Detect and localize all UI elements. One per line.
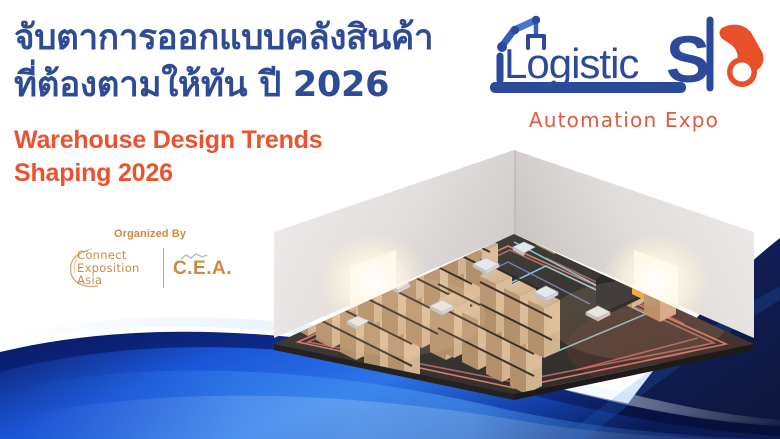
cea-map-icon <box>179 253 209 263</box>
organized-by-block: Organized By Connect Exposition Asia C.E… <box>60 228 240 289</box>
connect-exposition-asia-logo: Connect Exposition Asia <box>68 247 154 289</box>
cea-abbreviation-logo: C.E.A. <box>173 256 232 280</box>
organized-by-label: Organized By <box>60 228 240 240</box>
logo-wordmark: Logistic <box>504 40 638 87</box>
thai-headline-line-1: จับตาการออกแบบคลังสินค้า <box>14 16 464 61</box>
connect-exposition-asia-text: Connect Exposition Asia <box>77 249 140 287</box>
org-logo-line-1: Connect <box>77 249 140 262</box>
delivery-truck-icon <box>720 25 764 87</box>
english-headline-line-1: Warehouse Design Trends <box>14 124 464 157</box>
organizer-logo-divider <box>163 248 164 288</box>
organizer-logos: Connect Exposition Asia C.E.A. <box>60 247 240 289</box>
english-headline-line-2: Shaping 2026 <box>14 157 464 190</box>
headline-block: จับตาการออกแบบคลังสินค้า ที่ต้องตามให้ทั… <box>14 16 464 190</box>
logo-wordmark-accent: S <box>666 22 710 96</box>
poster-canvas: จับตาการออกแบบคลังสินค้า ที่ต้องตามให้ทั… <box>0 0 780 439</box>
thai-headline-line-2: ที่ต้องตามให้ทัน ปี 2026 <box>14 63 464 108</box>
logistics-logo-mark: Logistic S <box>478 8 770 108</box>
logistics-expo-logo: Logistic S Automation Expo <box>478 8 770 136</box>
logo-tagline: Automation Expo <box>478 108 770 132</box>
org-logo-line-3: Asia <box>77 274 140 287</box>
